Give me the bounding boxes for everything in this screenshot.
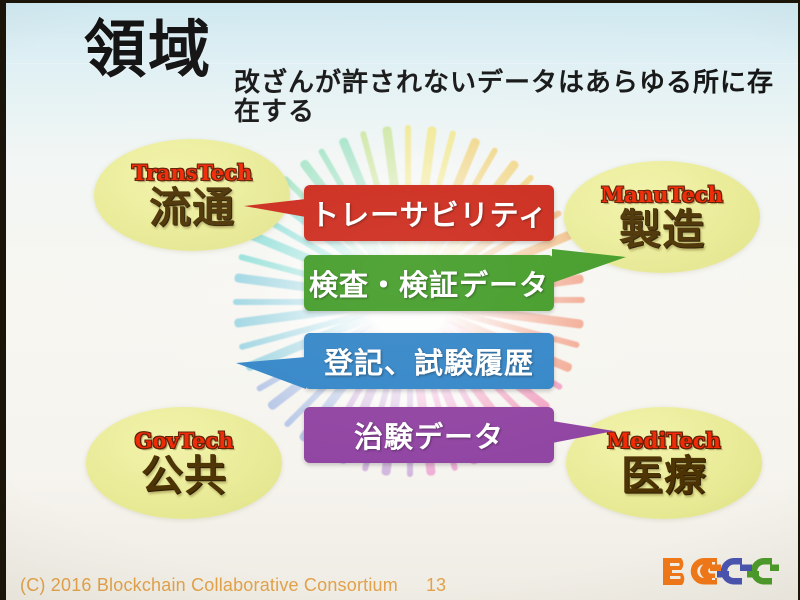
node-label-en: GovTech [135,430,234,451]
bccc-logo [658,551,786,591]
projected-slide-photo: 領域 改ざんが許されないデータはあらゆる所に存在する TransTech 流通 … [0,0,800,600]
page-number: 13 [426,575,446,596]
callout-tail-left-icon [236,357,306,389]
node-label-ja: 医療 [621,455,707,497]
callout-label: トレーサビリティ [310,192,548,234]
callout-tail-left-icon [244,199,306,217]
callout-label: 登記、試験履歴 [324,340,534,382]
callout-traceability: トレーサビリティ [304,185,554,241]
callout-clinical-trial-data: 治験データ [304,407,554,463]
callout-label: 検査・検証データ [309,262,549,304]
callout-label: 治験データ [354,414,504,456]
callout-tail-right-icon [552,249,626,283]
callout-registration-history: 登記、試験履歴 [304,333,554,389]
page-title: 領域 [84,19,212,81]
slide-canvas: 領域 改ざんが許されないデータはあらゆる所に存在する TransTech 流通 … [6,3,798,600]
callout-inspection-data: 検査・検証データ [304,255,554,311]
copyright-text: (C) 2016 Blockchain Collaborative Consor… [20,575,398,596]
page-subtitle: 改ざんが許されないデータはあらゆる所に存在する [234,69,798,126]
node-label-ja: 公共 [141,455,227,497]
node-label-en: ManuTech [601,184,723,205]
node-label-ja: 流通 [149,187,235,229]
callout-tail-right-icon [552,421,614,443]
node-transtech: TransTech 流通 [94,139,290,251]
node-govtech: GovTech 公共 [86,407,282,519]
node-label-ja: 製造 [619,209,705,251]
node-label-en: MediTech [607,430,721,451]
node-label-en: TransTech [132,162,253,183]
